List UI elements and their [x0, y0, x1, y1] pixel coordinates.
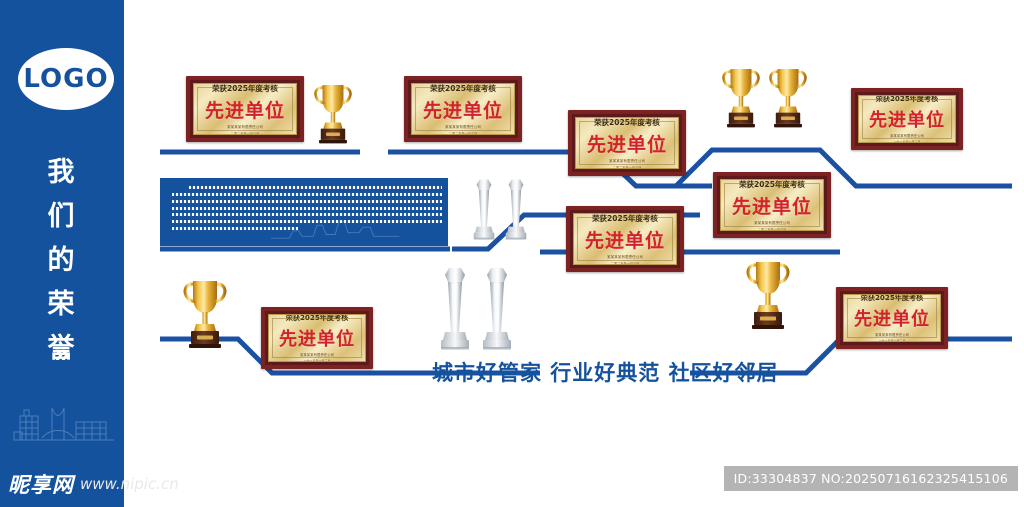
plaque-face: 荣获2025年度考核先进单位某某某某有限责任公司二零二五年一月三日 [575, 117, 679, 169]
plaque-sub-line-1: 某某某某有限责任公司 [445, 125, 481, 130]
plaque-sub-line-2: 二零二五年一月三日 [893, 139, 920, 143]
plaque-sub-line-2: 二零二五年一月三日 [878, 338, 905, 342]
plaque-sub-line-1: 某某某某有限责任公司 [875, 332, 909, 337]
plaque-top-line: 荣获2025年度考核 [212, 83, 278, 94]
plaque-main-line: 先进单位 [423, 96, 503, 123]
gold-trophy-icon [311, 78, 355, 146]
award-plaque: 荣获2025年度考核先进单位某某某某有限责任公司二零二五年一月三日 [568, 110, 686, 176]
plaque-face: 荣获2025年度考核先进单位某某某某有限责任公司二零二五年一月三日 [573, 213, 677, 265]
crystal-award-icon [436, 262, 474, 354]
plaque-main-line: 先进单位 [732, 192, 812, 219]
plaque-top-line: 荣获2025年度考核 [876, 95, 938, 104]
award-plaque: 荣获2025年度考核先进单位某某某某有限责任公司二零二五年一月三日 [851, 88, 963, 150]
plaque-face: 荣获2025年度考核先进单位某某某某有限责任公司二零二五年一月三日 [843, 294, 941, 342]
gold-trophy-icon [180, 273, 230, 351]
plaque-sub-line-1: 某某某某有限责任公司 [754, 221, 790, 226]
watermark-logo: 昵享网 www.nipic.cn [8, 469, 179, 499]
gold-trophy-icon [719, 62, 763, 130]
crystal-award-icon [502, 175, 530, 243]
panel-text-line [172, 200, 443, 203]
award-plaque: 荣获2025年度考核先进单位某某某某有限责任公司二零二五年一月三日 [566, 206, 684, 272]
plaque-sub-line-2: 二零二五年一月三日 [611, 261, 640, 266]
plaque-top-line: 荣获2025年度考核 [861, 294, 923, 303]
award-plaque: 荣获2025年度考核先进单位某某某某有限责任公司二零二五年一月三日 [404, 76, 522, 142]
plaque-main-line: 先进单位 [869, 106, 945, 132]
plaque-main-line: 先进单位 [585, 226, 665, 253]
award-plaque: 荣获2025年度考核先进单位某某某某有限责任公司二零二五年一月三日 [836, 287, 948, 349]
plaque-main-line: 先进单位 [205, 96, 285, 123]
plaque-sub-line-2: 二零二五年一月三日 [758, 227, 787, 232]
watermark-site-name: 昵享网 [8, 469, 74, 499]
plaque-main-line: 先进单位 [587, 130, 667, 157]
watermark-site-url: www.nipic.cn [80, 475, 179, 493]
plaque-sub-line-2: 二零二五年一月三日 [231, 131, 260, 136]
award-plaque: 荣获2025年度考核先进单位某某某某有限责任公司二零二五年一月三日 [713, 172, 831, 238]
plaque-sub-line-1: 某某某某有限责任公司 [890, 133, 924, 138]
plaque-top-line: 荣获2025年度考核 [286, 314, 348, 323]
plaque-face: 荣获2025年度考核先进单位某某某某有限责任公司二零二五年一月三日 [268, 314, 366, 362]
crystal-award-icon [470, 175, 498, 243]
plaque-sub-line-2: 二零二五年一月三日 [613, 165, 642, 170]
plaque-sub-line-2: 二零二五年一月三日 [449, 131, 478, 136]
panel-text-line [172, 193, 443, 196]
plaque-sub-line-1: 某某某某有限责任公司 [227, 125, 263, 130]
panel-text-line [189, 186, 442, 189]
plaque-top-line: 荣获2025年度考核 [594, 117, 660, 128]
plaque-top-line: 荣获2025年度考核 [592, 213, 658, 224]
award-plaque: 荣获2025年度考核先进单位某某某某有限责任公司二零二五年一月三日 [261, 307, 373, 369]
plaque-sub-line-1: 某某某某有限责任公司 [300, 352, 334, 357]
info-text-panel [160, 178, 448, 246]
award-plaque: 荣获2025年度考核先进单位某某某某有限责任公司二零二五年一月三日 [186, 76, 304, 142]
gold-trophy-icon [766, 62, 810, 130]
slogan-text: 城市好管家 行业好典范 社区好邻居 [432, 357, 779, 387]
panel-text-line [172, 207, 443, 210]
crystal-award-icon [478, 262, 516, 354]
plaque-sub-line-2: 二零二五年一月三日 [303, 358, 330, 362]
plaque-sub-line-1: 某某某某有限责任公司 [609, 159, 645, 164]
plaque-face: 荣获2025年度考核先进单位某某某某有限责任公司二零二五年一月三日 [411, 83, 515, 135]
plaque-face: 荣获2025年度考核先进单位某某某某有限责任公司二零二五年一月三日 [720, 179, 824, 231]
watermark-id-badge: ID:33304837 NO:20250716162325415106 [724, 466, 1018, 491]
plaque-main-line: 先进单位 [854, 305, 930, 331]
panel-skyline-icon [269, 218, 401, 240]
plaque-main-line: 先进单位 [279, 325, 355, 351]
plaque-top-line: 荣获2025年度考核 [430, 83, 496, 94]
panel-text-line [172, 213, 443, 216]
plaque-sub-line-1: 某某某某有限责任公司 [607, 255, 643, 260]
gold-trophy-icon [743, 254, 793, 332]
plaque-top-line: 荣获2025年度考核 [739, 179, 805, 190]
plaque-face: 荣获2025年度考核先进单位某某某某有限责任公司二零二五年一月三日 [858, 95, 956, 143]
plaque-face: 荣获2025年度考核先进单位某某某某有限责任公司二零二五年一月三日 [193, 83, 297, 135]
poster-canvas: LOGO 我 们 的 荣 誉 » [0, 0, 1024, 507]
